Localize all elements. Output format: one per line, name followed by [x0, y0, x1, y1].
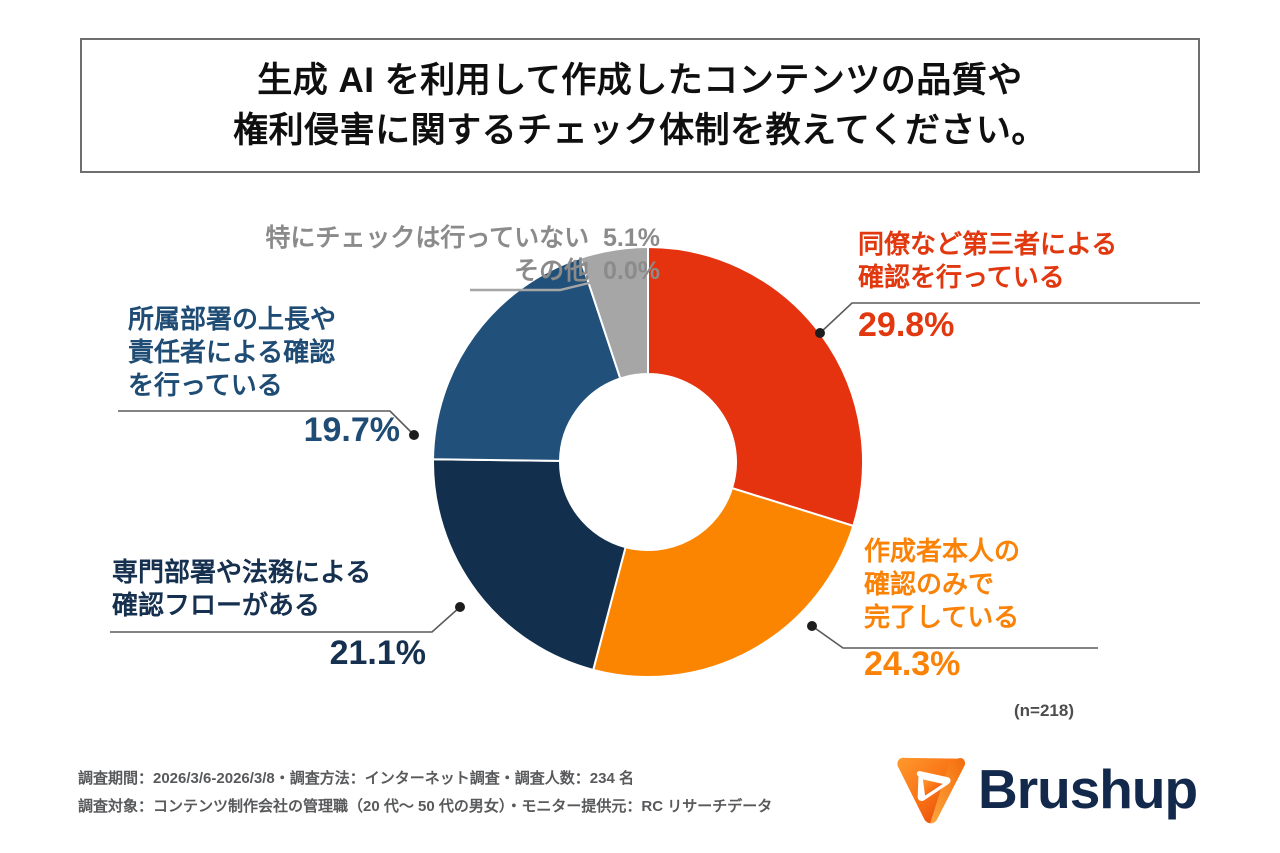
donut-slice	[648, 247, 863, 526]
callout-legal-dept-flow-label: 専門部署や法務による 確認フローがある	[112, 556, 472, 622]
callout-other-label: その他 0.0%	[160, 255, 660, 288]
callout-legal-dept-flow: 専門部署や法務による 確認フローがある 21.1%	[112, 556, 472, 671]
donut-chart	[413, 227, 883, 697]
survey-footnote-line-2: 調査対象：コンテンツ制作会社の管理職（20 代〜 50 代の男女）・モニター提供…	[78, 793, 772, 821]
callout-manager-check: 所属部署の上長や 責任者による確認 を行っている 19.7%	[128, 303, 428, 449]
callout-no-check-group: 特にチェックは行っていない 5.1% その他 0.0%	[160, 222, 660, 288]
survey-footnote-line-1: 調査期間：2026/3/6-2026/3/8・調査方法：インターネット調査・調査…	[78, 765, 772, 793]
callout-self-check-only: 作成者本人の 確認のみで 完了している 24.3%	[864, 535, 1194, 683]
callout-self-check-only-label: 作成者本人の 確認のみで 完了している	[864, 535, 1194, 633]
callout-legal-dept-flow-value: 21.1%	[112, 636, 472, 672]
title-box: 生成 AI を利用して作成したコンテンツの品質や 権利侵害に関するチェック体制を…	[80, 38, 1200, 173]
callout-self-check-only-value: 24.3%	[864, 647, 1194, 683]
sample-size-label: (n=218)	[1014, 701, 1074, 721]
brushup-play-triangle-icon	[894, 754, 968, 824]
survey-footnote: 調査期間：2026/3/6-2026/3/8・調査方法：インターネット調査・調査…	[78, 765, 772, 821]
brushup-wordmark: Brushup	[978, 762, 1197, 817]
callout-third-party-label: 同僚など第三者による 確認を行っている	[858, 228, 1188, 294]
callout-third-party: 同僚など第三者による 確認を行っている 29.8%	[858, 228, 1188, 343]
callout-no-check-label: 特にチェックは行っていない 5.1%	[160, 222, 660, 255]
brushup-logo: Brushup	[894, 754, 1197, 824]
callout-third-party-value: 29.8%	[858, 308, 1188, 344]
title-line-1: 生成 AI を利用して作成したコンテンツの品質や	[257, 56, 1022, 106]
infographic-canvas: 生成 AI を利用して作成したコンテンツの品質や 権利侵害に関するチェック体制を…	[0, 0, 1280, 853]
callout-manager-check-value: 19.7%	[128, 413, 428, 449]
callout-manager-check-label: 所属部署の上長や 責任者による確認 を行っている	[128, 303, 428, 401]
title-line-2: 権利侵害に関するチェック体制を教えてください。	[233, 106, 1047, 156]
donut-slice	[593, 488, 853, 677]
